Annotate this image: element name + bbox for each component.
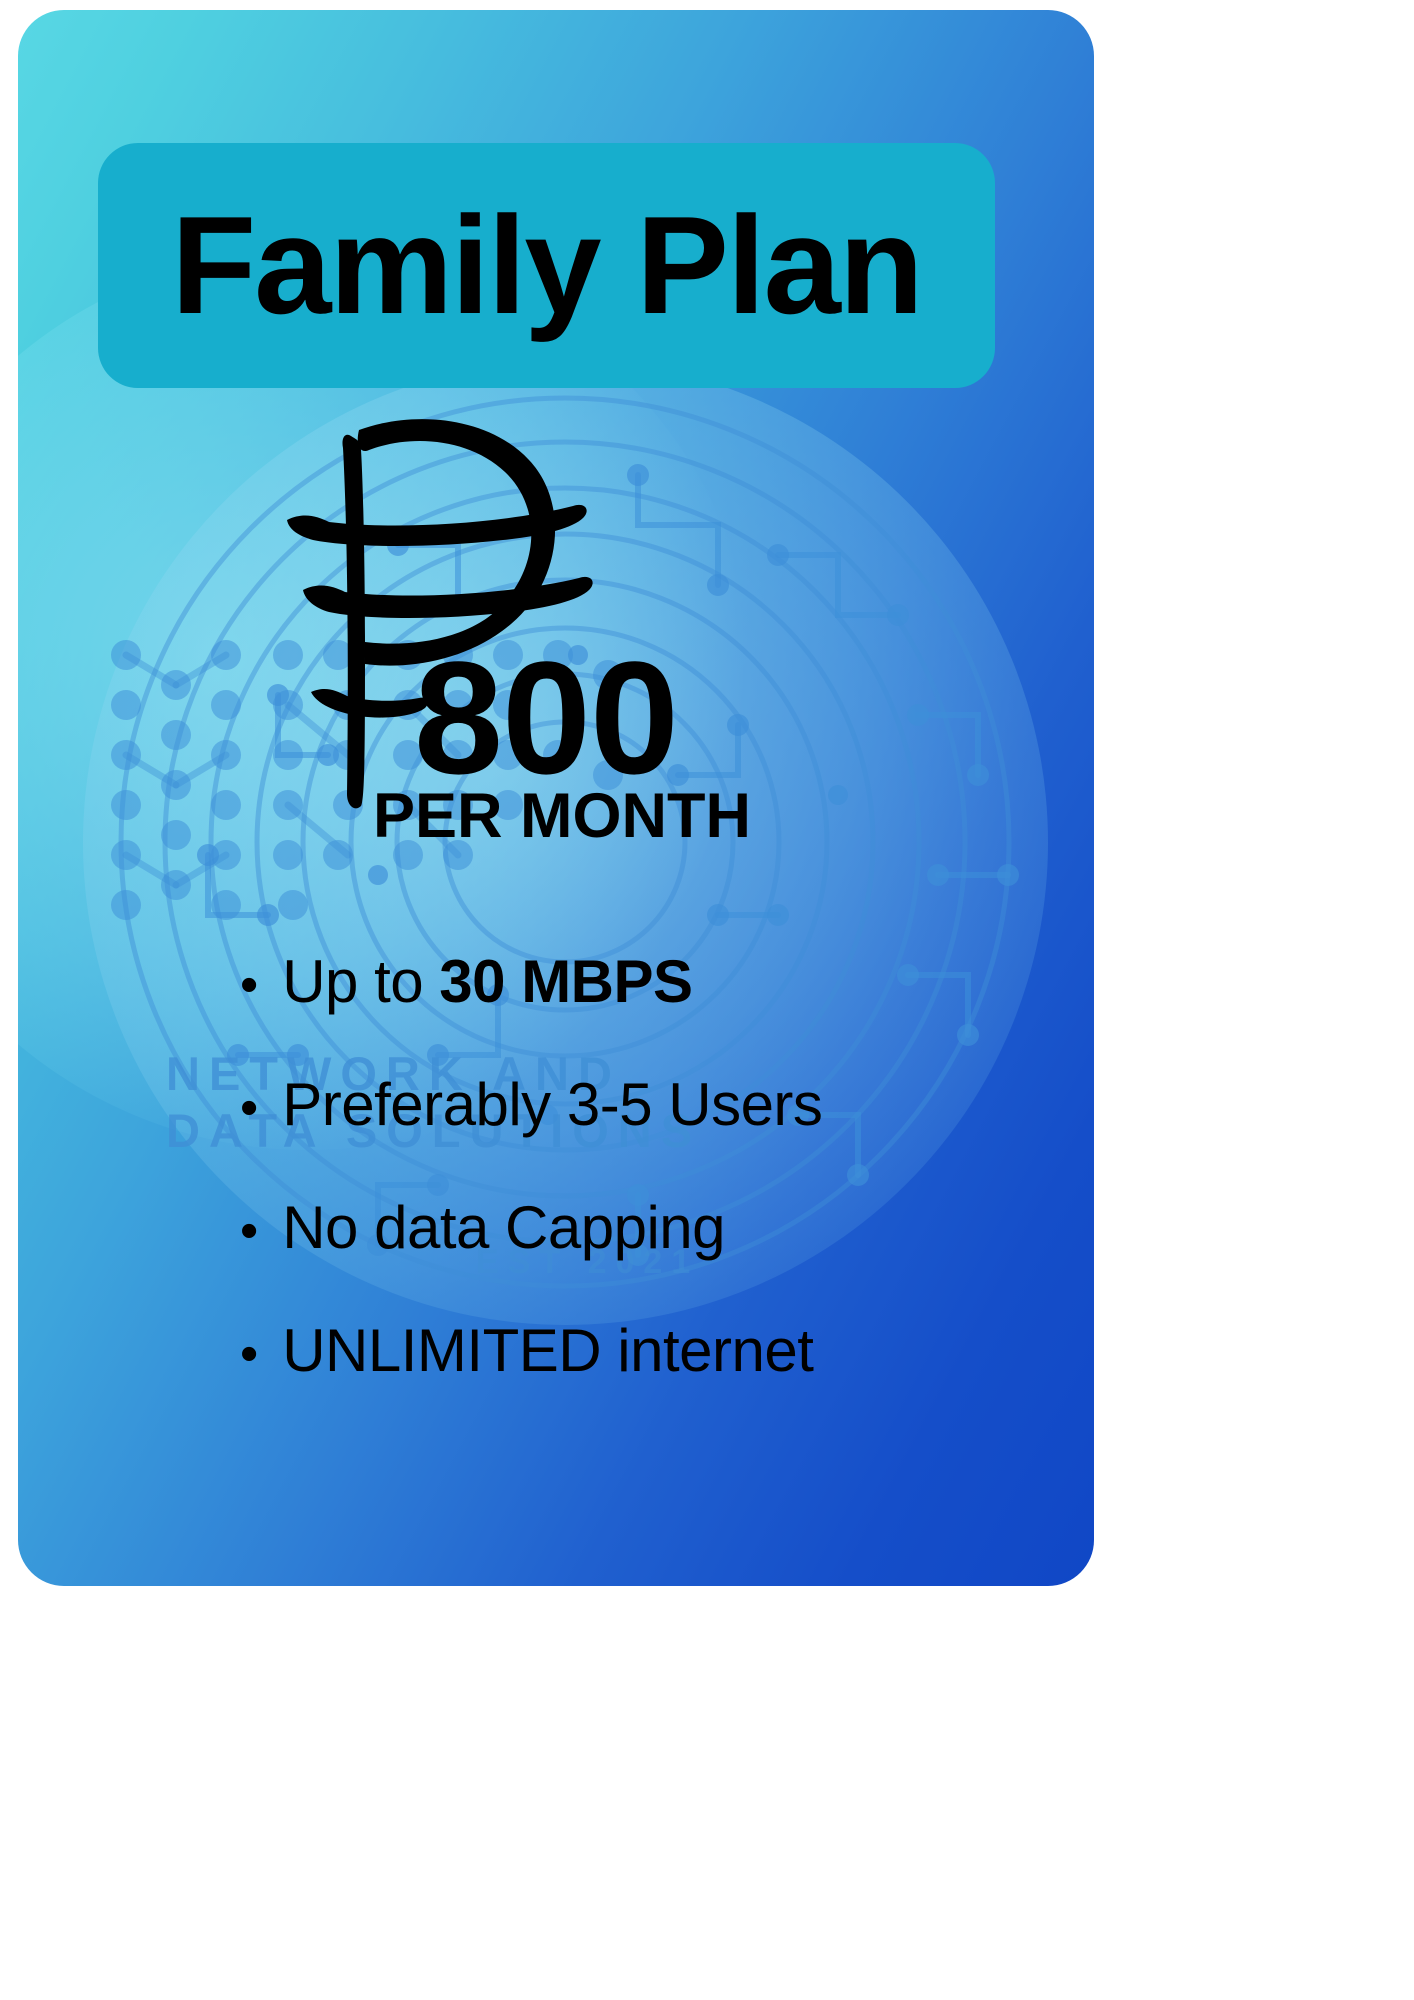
plan-card: NETWORK AND DATA SOLUTIONS EST 2021 Fami… <box>18 10 1094 1586</box>
plan-header-banner: Family Plan <box>98 143 995 388</box>
bullet-icon: • <box>240 1082 258 1134</box>
bullet-icon: • <box>240 1328 258 1380</box>
list-item: • No data Capping <box>240 1196 1060 1259</box>
feature-prefix: UNLIMITED internet <box>282 1317 813 1384</box>
list-item: • UNLIMITED internet <box>240 1319 1060 1382</box>
feature-prefix: Up to <box>282 948 439 1015</box>
feature-label: UNLIMITED internet <box>282 1319 813 1382</box>
bullet-icon: • <box>240 959 258 1011</box>
feature-label: Up to 30 MBPS <box>282 950 692 1013</box>
list-item: • Preferably 3-5 Users <box>240 1073 1060 1136</box>
bullet-icon: • <box>240 1205 258 1257</box>
feature-label: Preferably 3-5 Users <box>282 1073 822 1136</box>
list-item: • Up to 30 MBPS <box>240 950 1060 1013</box>
page-title: Family Plan <box>171 196 922 335</box>
price-period: PER MONTH <box>373 785 751 848</box>
feature-prefix: Preferably 3-5 Users <box>282 1071 822 1138</box>
feature-list: • Up to 30 MBPS • Preferably 3-5 Users •… <box>240 950 1060 1442</box>
feature-label: No data Capping <box>282 1196 725 1259</box>
feature-prefix: No data Capping <box>282 1194 725 1261</box>
price-amount: 800 <box>414 638 678 798</box>
feature-emphasis: 30 MBPS <box>439 948 692 1015</box>
